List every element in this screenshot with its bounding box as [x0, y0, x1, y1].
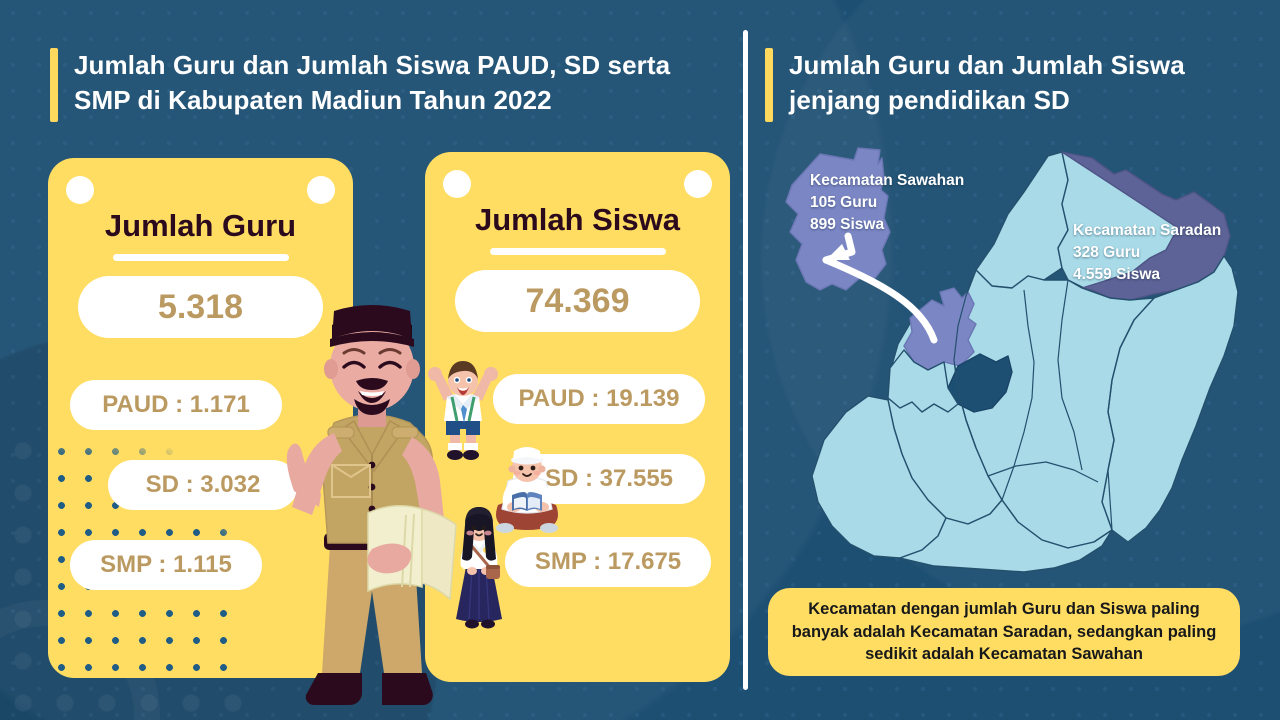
card-punch-hole-right [684, 170, 712, 198]
card-punch-hole-left [443, 170, 471, 198]
card-guru-heading: Jumlah Guru [48, 208, 353, 244]
map-label-sawahan-teachers: 105 Guru [810, 192, 964, 214]
map-caption-text: Kecamatan dengan jumlah Guru dan Siswa p… [784, 598, 1224, 666]
map-label-saradan-students: 4.559 Siswa [1073, 264, 1221, 286]
title-accent-bar [50, 48, 58, 122]
map-label-saradan-district: Kecamatan Saradan [1073, 220, 1221, 242]
guru-total-value: 5.318 [78, 276, 323, 338]
map-label-saradan-teachers: 328 Guru [1073, 242, 1221, 264]
right-panel-title-text: Jumlah Guru dan Jumlah Siswa jenjang pen… [789, 48, 1235, 117]
card-punch-hole-right [307, 176, 335, 204]
card-siswa-heading: Jumlah Siswa [425, 202, 730, 238]
guru-paud-value: PAUD : 1.171 [70, 380, 282, 430]
card-heading-underline [490, 248, 666, 255]
guru-sd-value: SD : 3.032 [108, 460, 298, 510]
panel-divider [743, 30, 748, 690]
guru-smp-value: SMP : 1.115 [70, 540, 262, 590]
map-label-sawahan: Kecamatan Sawahan 105 Guru 899 Siswa [810, 170, 964, 236]
card-jumlah-siswa: Jumlah Siswa 74.369 PAUD : 19.139 SD : 3… [425, 152, 730, 682]
title-accent-bar [765, 48, 773, 122]
map-label-saradan: Kecamatan Saradan 328 Guru 4.559 Siswa [1073, 220, 1221, 286]
map-district-north [976, 152, 1068, 288]
siswa-total-value: 74.369 [455, 270, 700, 332]
left-panel-title-text: Jumlah Guru dan Jumlah Siswa PAUD, SD se… [74, 48, 710, 117]
siswa-smp-value: SMP : 17.675 [505, 537, 711, 587]
left-panel-title: Jumlah Guru dan Jumlah Siswa PAUD, SD se… [50, 48, 710, 122]
card-jumlah-guru: Jumlah Guru 5.318 PAUD : 1.171 SD : 3.03… [48, 158, 353, 678]
map-caption-box: Kecamatan dengan jumlah Guru dan Siswa p… [768, 588, 1240, 676]
card-punch-hole-left [66, 176, 94, 204]
map-label-sawahan-district: Kecamatan Sawahan [810, 170, 964, 192]
right-panel-title: Jumlah Guru dan Jumlah Siswa jenjang pen… [765, 48, 1235, 122]
siswa-sd-value: SD : 37.555 [513, 454, 705, 504]
card-heading-underline [113, 254, 289, 261]
siswa-paud-value: PAUD : 19.139 [493, 374, 705, 424]
map-label-sawahan-students: 899 Siswa [810, 214, 964, 236]
